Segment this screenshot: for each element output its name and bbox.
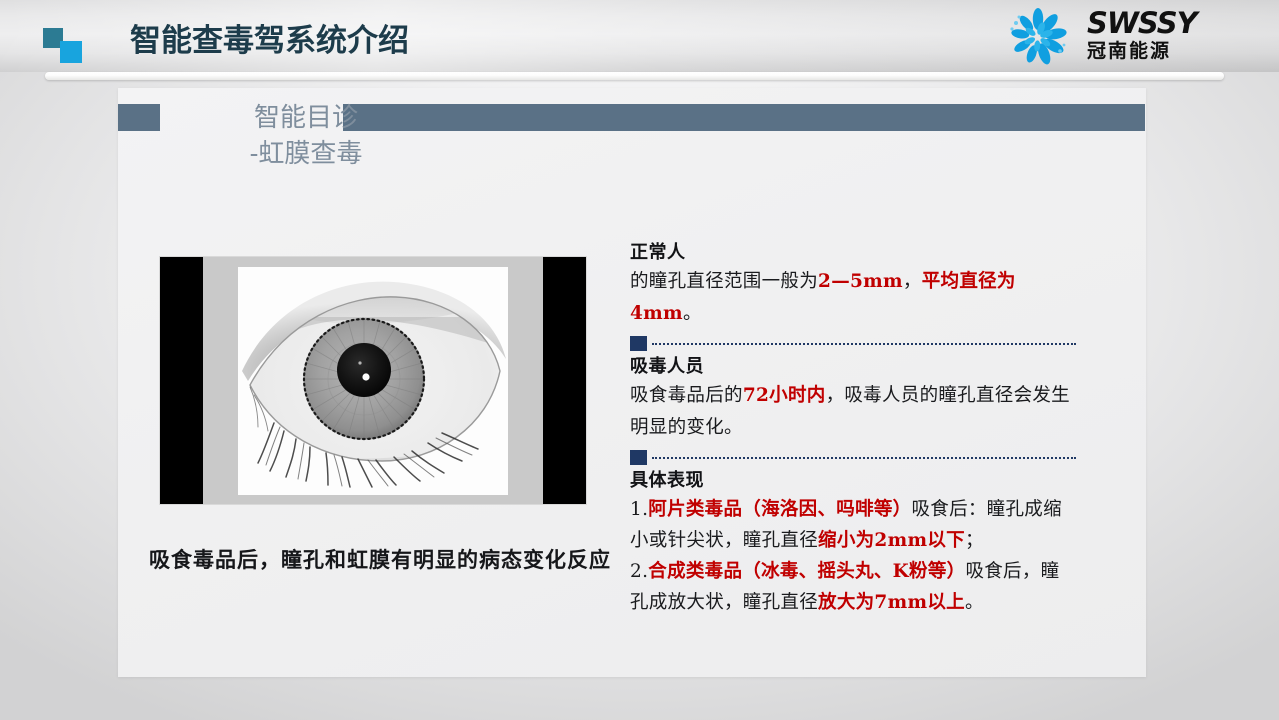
text-run-emphasis: 合成类毒品（冰毒、摇头丸、K粉等）	[648, 561, 965, 582]
brand-subname: 冠南能源	[1087, 39, 1197, 64]
decor-square-light-icon	[60, 41, 82, 63]
list-item: 1.阿片类毒品（海洛因、吗啡等）吸食后：瞳孔成缩小或针尖状，瞳孔直径缩小为2mm…	[630, 494, 1076, 556]
section-heading: 正常人	[630, 240, 1076, 266]
text-run: 。	[965, 592, 984, 613]
text-run: 的瞳孔直径范围一般为	[630, 271, 818, 292]
slide-canvas: 智能查毒驾系统介绍	[0, 0, 1279, 720]
slide-title-line2: -虹膜查毒	[176, 136, 436, 172]
header-divider	[45, 72, 1224, 80]
section-drug-user: 吸毒人员 吸食毒品后的72小时内，吸毒人员的瞳孔直径会发生明显的变化。	[630, 354, 1076, 444]
square-bullet-icon	[630, 450, 647, 465]
text-run: ，	[903, 271, 922, 292]
list-item-number: 2.	[630, 561, 648, 582]
title-accent-block-small	[118, 104, 160, 131]
text-run-emphasis: 缩小为2mm以下	[818, 530, 965, 551]
eye-figure	[160, 257, 586, 504]
slide-title: 智能目诊 -虹膜查毒	[176, 100, 436, 172]
eye-photo-image	[238, 267, 508, 495]
text-run-emphasis: 2—5mm	[818, 271, 903, 292]
slide-title-line1: 智能目诊	[176, 100, 436, 136]
brand-text: SWSSY 冠南能源	[1087, 8, 1197, 64]
section-divider	[630, 448, 1076, 466]
figure-letterbox-right	[543, 257, 586, 504]
dotted-rule	[652, 457, 1076, 459]
text-run: ；	[965, 530, 984, 551]
list-item: 2.合成类毒品（冰毒、摇头丸、K粉等）吸食后，瞳孔成放大状，瞳孔直径放大为7mm…	[630, 556, 1076, 618]
figure-caption: 吸食毒品后，瞳孔和虹膜有明显的病态变化反应	[130, 545, 630, 575]
text-run: 。	[683, 303, 702, 324]
section-body: 吸食毒品后的72小时内，吸毒人员的瞳孔直径会发生明显的变化。	[630, 380, 1076, 444]
brand-logo: SWSSY 冠南能源	[999, 6, 1257, 68]
text-run: 吸食毒品后的	[630, 385, 743, 406]
slide-header: 智能查毒驾系统介绍	[0, 0, 1279, 72]
section-normal-person: 正常人 的瞳孔直径范围一般为2—5mm，平均直径为4mm。	[630, 240, 1076, 330]
section-heading: 具体表现	[630, 468, 1076, 494]
explanation-column: 正常人 的瞳孔直径范围一般为2—5mm，平均直径为4mm。 吸毒人员 吸食毒品后…	[630, 240, 1076, 618]
square-bullet-icon	[630, 336, 647, 351]
text-run-emphasis: 72小时内	[743, 385, 826, 406]
dotted-rule	[652, 343, 1076, 345]
page-title: 智能查毒驾系统介绍	[130, 20, 409, 62]
water-droplet-flower-icon	[999, 8, 1077, 66]
section-body: 的瞳孔直径范围一般为2—5mm，平均直径为4mm。	[630, 266, 1076, 330]
brand-name: SWSSY	[1087, 8, 1197, 39]
text-run-emphasis: 放大为7mm以上	[818, 592, 965, 613]
title-accent-block-long	[343, 104, 1145, 131]
section-heading: 吸毒人员	[630, 354, 1076, 380]
list-item-number: 1.	[630, 499, 648, 520]
figure-letterbox-left	[160, 257, 203, 504]
section-specific-signs: 具体表现 1.阿片类毒品（海洛因、吗啡等）吸食后：瞳孔成缩小或针尖状，瞳孔直径缩…	[630, 468, 1076, 618]
section-divider	[630, 334, 1076, 352]
text-run-emphasis: 阿片类毒品（海洛因、吗啡等）	[648, 499, 911, 520]
